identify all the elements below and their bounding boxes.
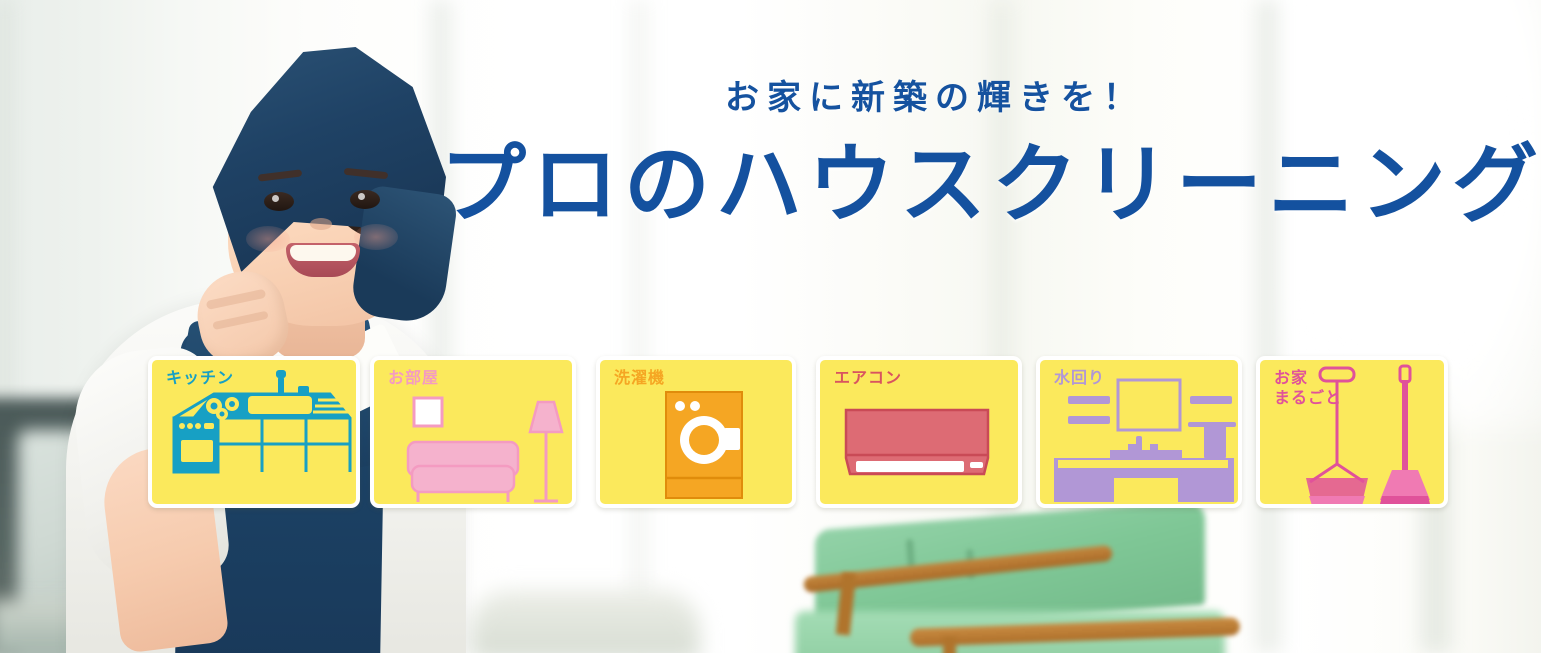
hero-title: プロのハウスクリーニング: [440, 139, 1430, 232]
service-card-row: キッチン: [148, 356, 1448, 516]
hero-banner: お家に新築の輝きを！ プロのハウスクリーニング: [0, 0, 1541, 653]
knuckle-line: [206, 289, 267, 310]
hero-subtitle: お家に新築の輝きを！: [440, 70, 1430, 119]
nose: [310, 218, 332, 230]
sofa-leg: [943, 637, 956, 653]
eye-right: [350, 190, 380, 209]
eye-left: [264, 192, 294, 211]
service-card-kitchen[interactable]: キッチン: [148, 356, 360, 508]
teeth: [290, 245, 356, 261]
service-card-room[interactable]: お部屋: [370, 356, 576, 508]
card-label: 洗濯機: [614, 369, 665, 389]
service-card-wholehouse[interactable]: お家 まるごと: [1256, 356, 1448, 508]
card-label: お部屋: [388, 369, 439, 389]
headline-block: お家に新築の輝きを！ プロのハウスクリーニング: [440, 70, 1430, 232]
card-label: お家 まるごと: [1274, 369, 1342, 409]
service-card-aircon[interactable]: エアコン: [816, 356, 1022, 508]
knuckle-line: [212, 311, 268, 330]
card-label: エアコン: [834, 369, 902, 389]
staff-photo: [58, 0, 488, 653]
cheek-left: [246, 226, 290, 252]
cheek-right: [354, 224, 398, 250]
green-sofa: [795, 515, 1225, 653]
card-label: キッチン: [166, 369, 234, 389]
service-card-bathroom[interactable]: 水回り: [1036, 356, 1242, 508]
service-card-washer[interactable]: 洗濯機: [596, 356, 796, 508]
blurred-table-center: [470, 590, 700, 653]
card-label: 水回り: [1054, 369, 1105, 389]
